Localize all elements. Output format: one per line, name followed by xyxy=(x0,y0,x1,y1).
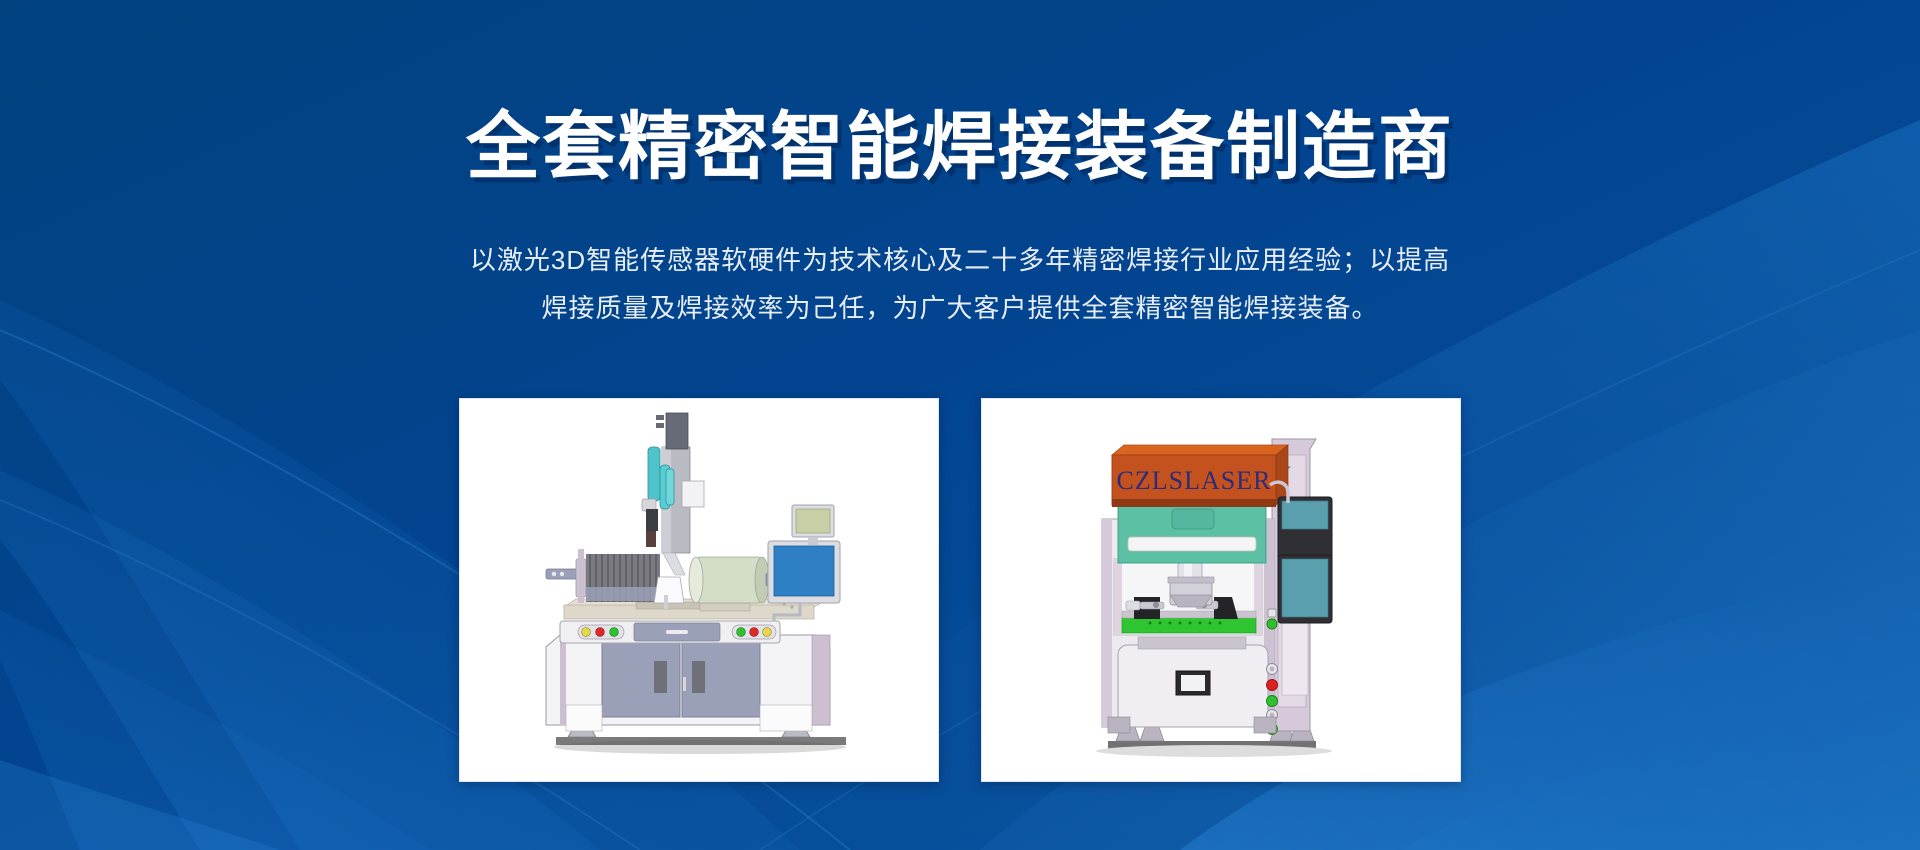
page-title: 全套精密智能焊接装备制造商 xyxy=(466,108,1454,186)
headline-container: 全套精密智能焊接装备制造商 xyxy=(0,58,1920,236)
hero-banner: 全套精密智能焊接装备制造商 以激光3D智能传感器软硬件为技术核心及二十多年精密焊… xyxy=(0,0,1920,850)
product-gallery: CZLSLASER xyxy=(459,398,1461,780)
subtitle-container: 以激光3D智能传感器软硬件为技术核心及二十多年精密焊接行业应用经验；以提高 焊接… xyxy=(400,236,1520,332)
subtitle-line-2: 焊接质量及焊接效率为己任，为广大客户提供全套精密智能焊接装备。 xyxy=(400,284,1520,332)
product-card-right[interactable]: CZLSLASER xyxy=(981,398,1461,782)
product-brand-label: CZLSLASER xyxy=(1117,466,1272,495)
precision-welding-workstation-illustration xyxy=(460,399,938,781)
subtitle-line-1: 以激光3D智能传感器软硬件为技术核心及二十多年精密焊接行业应用经验；以提高 xyxy=(400,236,1520,284)
product-card-left[interactable] xyxy=(459,398,939,782)
enclosed-laser-welding-machine-illustration: CZLSLASER xyxy=(982,399,1460,781)
